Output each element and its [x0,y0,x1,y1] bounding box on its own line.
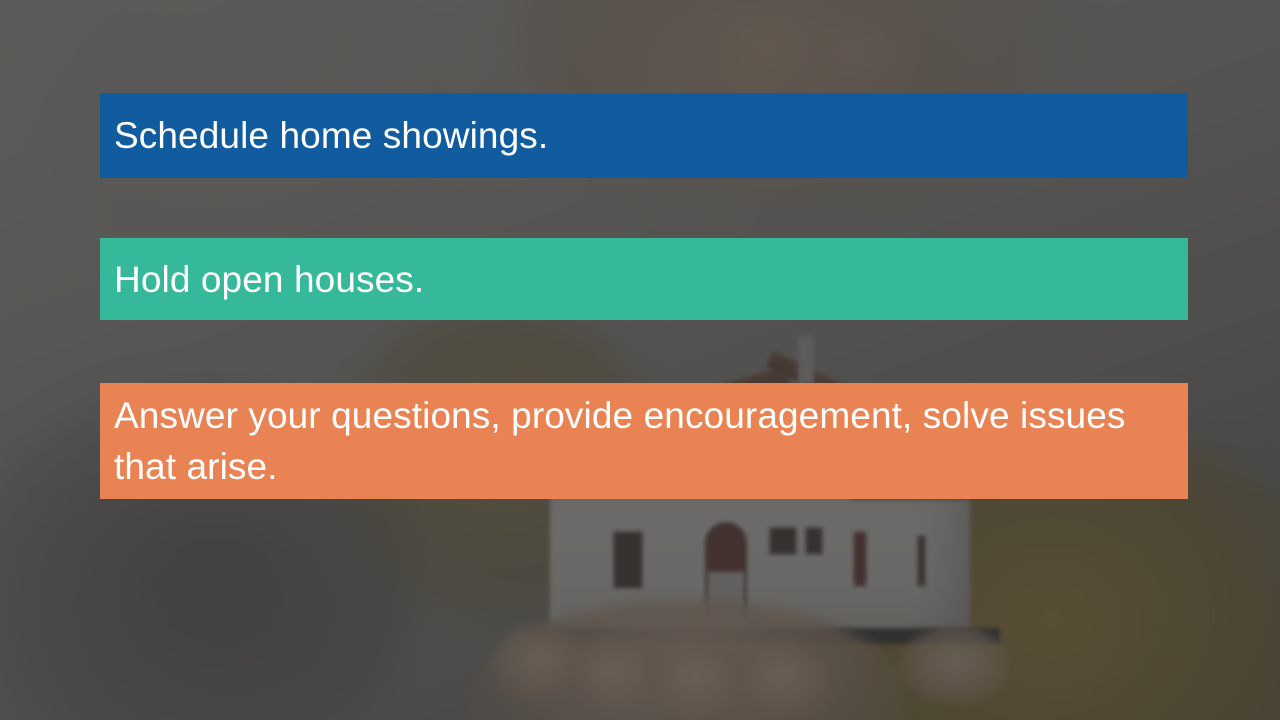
bullet-bar-answer-questions: Answer your questions, provide encourage… [100,383,1188,499]
bullet-bar-label: Hold open houses. [114,254,424,305]
bullet-bar-schedule-home-showings: Schedule home showings. [100,93,1188,178]
presentation-slide: Schedule home showings. Hold open houses… [0,0,1280,720]
bullet-bar-label: Schedule home showings. [114,110,548,161]
bullet-bar-hold-open-houses: Hold open houses. [100,238,1188,320]
bullet-bar-list: Schedule home showings. Hold open houses… [0,0,1280,720]
bullet-bar-label: Answer your questions, provide encourage… [114,390,1174,492]
